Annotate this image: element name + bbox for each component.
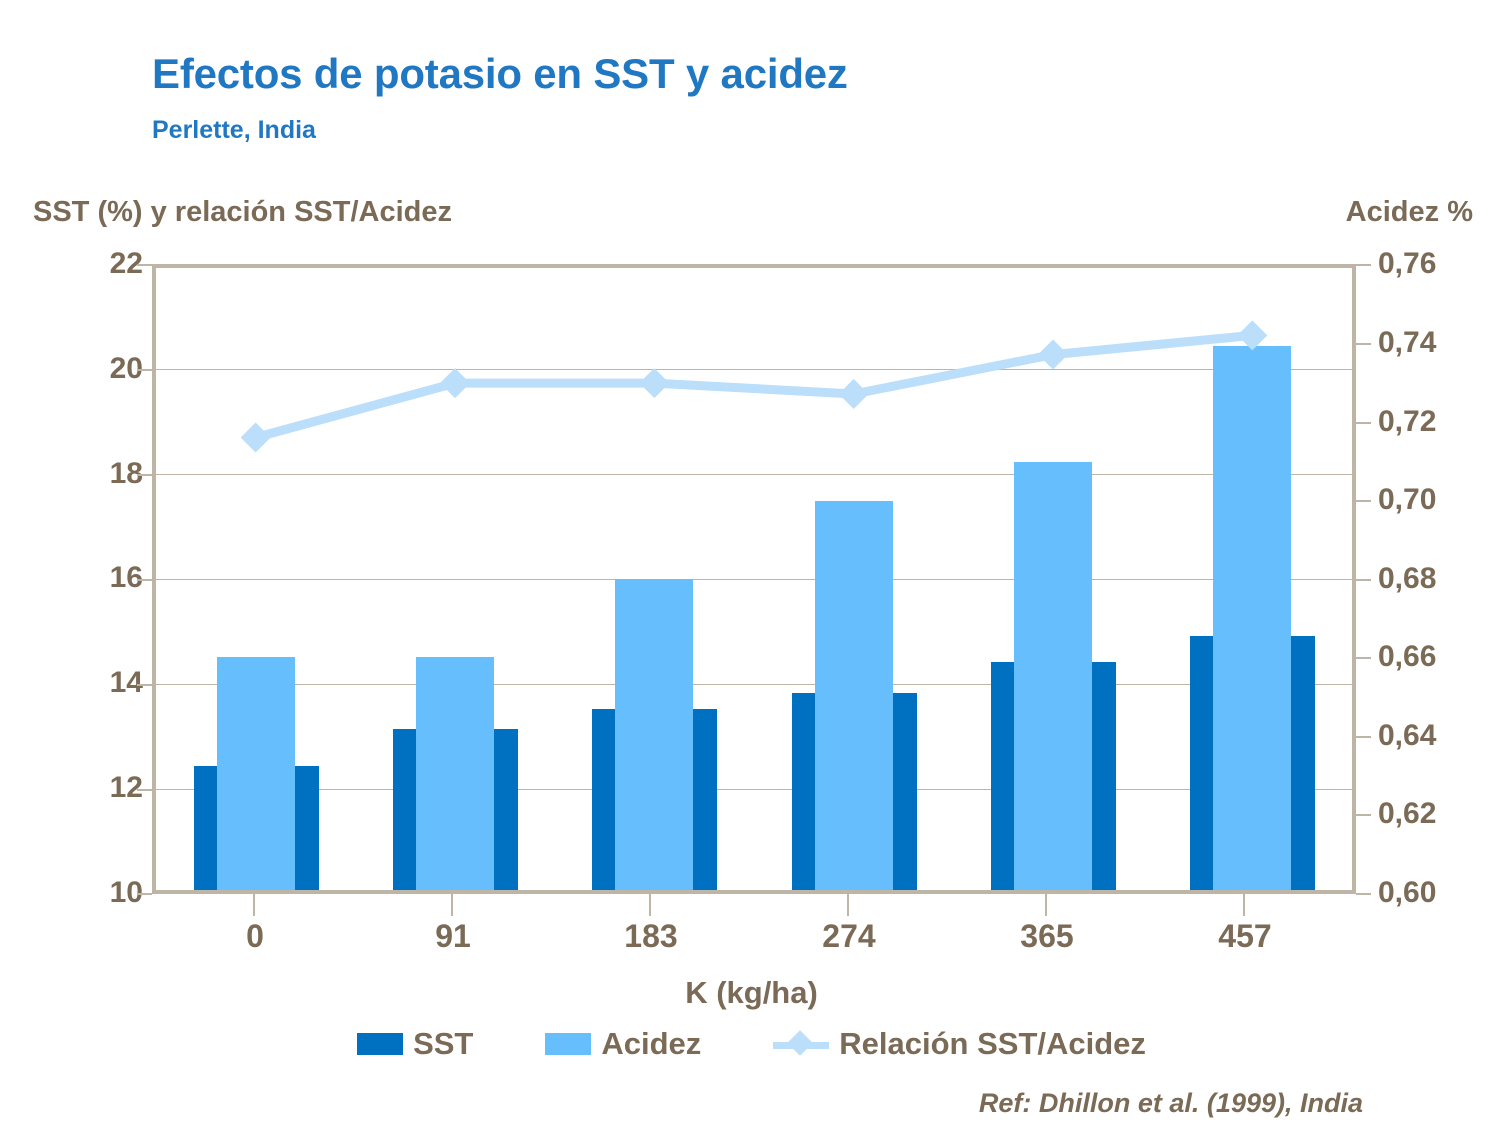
- xaxis-tick: [253, 894, 255, 916]
- right-tickmark: [1356, 264, 1371, 266]
- left-tickmark: [137, 684, 152, 686]
- reference-note: Ref: Dhillon et al. (1999), India: [979, 1088, 1363, 1119]
- right-tickmark: [1356, 736, 1371, 738]
- left-tickmark: [137, 264, 152, 266]
- legend-label-ratio: Relación SST/Acidez: [839, 1026, 1146, 1062]
- ratio-markers: [241, 320, 1268, 452]
- legend-line-diamond-icon: [773, 1033, 829, 1055]
- left-tickmark: [137, 474, 152, 476]
- ratio-marker-274[interactable]: [839, 379, 869, 409]
- ratio-marker-183[interactable]: [639, 368, 669, 398]
- xaxis-title: K (kg/ha): [0, 975, 1503, 1011]
- xaxis-label-0: 0: [175, 918, 335, 955]
- left-tick-12: 12: [48, 771, 143, 805]
- right-tick-072: 0,72: [1378, 405, 1503, 439]
- gridline-18: [156, 474, 1352, 475]
- xaxis-tick: [1045, 894, 1047, 916]
- right-tickmark: [1356, 814, 1371, 816]
- gridline-20: [156, 369, 1352, 370]
- left-axis-title: SST (%) y relación SST/Acidez: [33, 196, 452, 229]
- xaxis-label-183: 183: [571, 918, 731, 955]
- slide-root: Efectos de potasio en SST y acidez Perle…: [0, 0, 1503, 1129]
- gridline-12: [156, 789, 1352, 790]
- xaxis-label-365: 365: [967, 918, 1127, 955]
- right-tick-076: 0,76: [1378, 247, 1503, 281]
- left-tick-18: 18: [48, 457, 143, 491]
- right-tick-066: 0,66: [1378, 640, 1503, 674]
- legend-item-acidez[interactable]: Acidez: [545, 1026, 701, 1062]
- page-subtitle: Perlette, India: [152, 116, 316, 145]
- xaxis-tick: [451, 894, 453, 916]
- legend-label-sst: SST: [413, 1026, 473, 1062]
- ratio-marker-365[interactable]: [1038, 340, 1068, 370]
- xaxis-label-274: 274: [769, 918, 929, 955]
- right-tick-064: 0,64: [1378, 719, 1503, 753]
- left-tickmark: [137, 369, 152, 371]
- left-tick-14: 14: [48, 666, 143, 700]
- legend-item-sst[interactable]: SST: [357, 1026, 473, 1062]
- xaxis-label-457: 457: [1165, 918, 1325, 955]
- xaxis-label-91: 91: [373, 918, 533, 955]
- legend-swatch-sst-icon: [357, 1033, 403, 1055]
- gridline-16: [156, 579, 1352, 580]
- gridline-14: [156, 684, 1352, 685]
- chart-legend: SST Acidez Relación SST/Acidez: [0, 1026, 1503, 1062]
- xaxis-tick: [649, 894, 651, 916]
- ratio-marker-0[interactable]: [241, 422, 271, 452]
- right-tick-060: 0,60: [1378, 876, 1503, 910]
- xaxis-tick: [1243, 894, 1245, 916]
- left-tickmark: [137, 893, 152, 895]
- ratio-marker-91[interactable]: [440, 368, 470, 398]
- bar-acidez-457[interactable]: [1213, 346, 1291, 890]
- right-tick-074: 0,74: [1378, 326, 1503, 360]
- xaxis-tick: [847, 894, 849, 916]
- left-tick-20: 20: [48, 352, 143, 386]
- bar-acidez-365[interactable]: [1014, 462, 1092, 890]
- left-tick-16: 16: [48, 561, 143, 595]
- right-tick-068: 0,68: [1378, 562, 1503, 596]
- right-tick-062: 0,62: [1378, 797, 1503, 831]
- page-title: Efectos de potasio en SST y acidez: [152, 50, 848, 98]
- legend-item-ratio[interactable]: Relación SST/Acidez: [773, 1026, 1146, 1062]
- right-tickmark: [1356, 893, 1371, 895]
- legend-swatch-acidez-icon: [545, 1033, 591, 1055]
- left-tickmark: [137, 579, 152, 581]
- legend-label-acidez: Acidez: [601, 1026, 701, 1062]
- right-axis-title: Acidez %: [1346, 196, 1473, 229]
- left-tick-22: 22: [48, 247, 143, 281]
- bar-acidez-0[interactable]: [217, 657, 295, 890]
- right-tickmark: [1356, 500, 1371, 502]
- bar-acidez-91[interactable]: [416, 657, 494, 890]
- bar-acidez-183[interactable]: [615, 579, 693, 890]
- left-tickmark: [137, 789, 152, 791]
- right-tickmark: [1356, 657, 1371, 659]
- bar-acidez-274[interactable]: [815, 501, 893, 890]
- right-tick-070: 0,70: [1378, 483, 1503, 517]
- right-tickmark: [1356, 422, 1371, 424]
- plot-area: [152, 264, 1356, 894]
- left-tick-10: 10: [48, 876, 143, 910]
- right-tickmark: [1356, 579, 1371, 581]
- ratio-polyline: [256, 335, 1253, 437]
- right-tickmark: [1356, 343, 1371, 345]
